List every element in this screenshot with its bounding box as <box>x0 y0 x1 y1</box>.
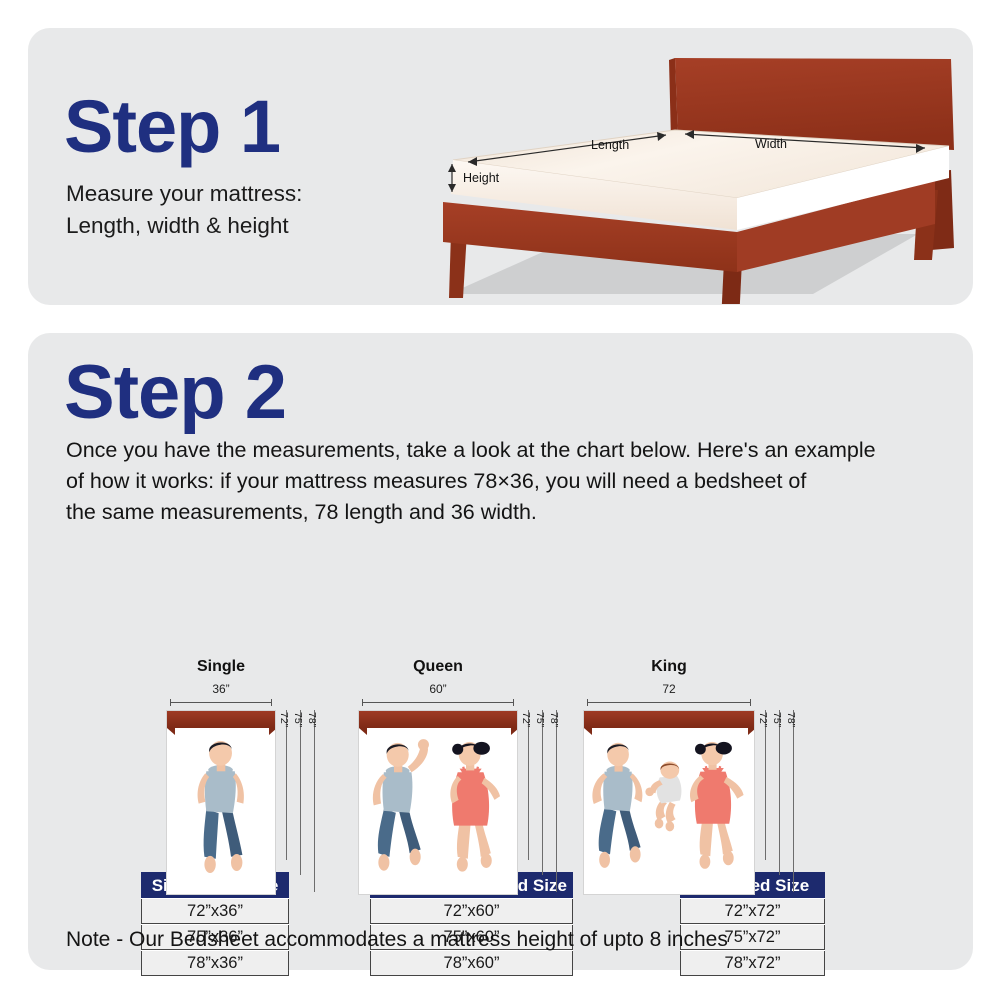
figure-man <box>592 743 642 868</box>
bed-width-label: Width <box>755 137 787 151</box>
bed-name-queen: Queen <box>358 658 518 676</box>
mattress-single <box>166 710 276 895</box>
figure-woman <box>450 742 500 872</box>
length-scale-king: 72” 75” 78” <box>761 710 797 895</box>
bed-svg <box>413 42 993 304</box>
step1-title: Step 1 <box>64 90 280 164</box>
bed-length-label: Length <box>591 138 629 152</box>
len-label-72: 72” <box>278 712 290 727</box>
len-label-78: 78” <box>785 712 797 727</box>
note-text: Note - Our Bedsheet accommodates a mattr… <box>66 928 728 952</box>
table-row: 78”x72” <box>680 951 825 976</box>
width-rule <box>170 702 272 703</box>
headboard-icon <box>167 711 276 728</box>
step1-card: Step 1 Measure your mattress: Length, wi… <box>28 28 973 305</box>
len-line-78 <box>314 710 315 892</box>
occupants-single <box>167 711 276 895</box>
len-line-72 <box>765 710 766 860</box>
occupants-king <box>584 711 755 895</box>
figure-woman <box>690 742 744 869</box>
step2-title: Step 2 <box>64 355 286 431</box>
mattress-king <box>583 710 755 895</box>
len-line-75 <box>542 710 543 875</box>
len-line-75 <box>779 710 780 875</box>
headboard-icon <box>359 711 518 728</box>
len-label-72: 72” <box>520 712 532 727</box>
table-row: 72”x36” <box>141 899 289 924</box>
bed-width-queen: 60” <box>358 682 518 696</box>
width-rule <box>362 702 514 703</box>
table-row: 72”x60” <box>370 899 573 924</box>
width-rule <box>587 702 751 703</box>
len-label-75: 75” <box>771 712 783 727</box>
figure-child <box>645 762 681 832</box>
len-line-75 <box>300 710 301 875</box>
bed-name-king: King <box>583 658 755 676</box>
bed-height-label: Height <box>463 171 499 185</box>
bed-name-single: Single <box>166 658 276 676</box>
len-label-78: 78” <box>548 712 560 727</box>
len-label-72: 72” <box>757 712 769 727</box>
headboard-icon <box>584 711 755 728</box>
length-scale-queen: 72” 75” 78” <box>524 710 560 895</box>
occupants-queen <box>359 711 518 895</box>
len-line-78 <box>793 710 794 892</box>
figure-man <box>373 739 429 871</box>
len-label-75: 75” <box>292 712 304 727</box>
step2-card: Step 2 Once you have the measurements, t… <box>28 333 973 970</box>
table-row: 78”x60” <box>370 951 573 976</box>
table-row: 78”x36” <box>141 951 289 976</box>
len-label-75: 75” <box>534 712 546 727</box>
len-label-78: 78” <box>306 712 318 727</box>
bed-illustration: Length Width Height <box>413 42 993 304</box>
len-line-78 <box>556 710 557 892</box>
figure-man <box>198 741 244 873</box>
len-line-72 <box>286 710 287 860</box>
bed-width-king: 72 <box>583 682 755 696</box>
step1-subtitle: Measure your mattress: Length, width & h… <box>66 178 302 242</box>
table-row: 72”x72” <box>680 899 825 924</box>
page-root: Step 1 Measure your mattress: Length, wi… <box>0 0 1000 1000</box>
mattress-queen <box>358 710 518 895</box>
bed-width-single: 36” <box>166 682 276 696</box>
step2-paragraph: Once you have the measurements, take a l… <box>66 435 946 529</box>
len-line-72 <box>528 710 529 860</box>
length-scale-single: 72” 75” 78” <box>282 710 318 895</box>
